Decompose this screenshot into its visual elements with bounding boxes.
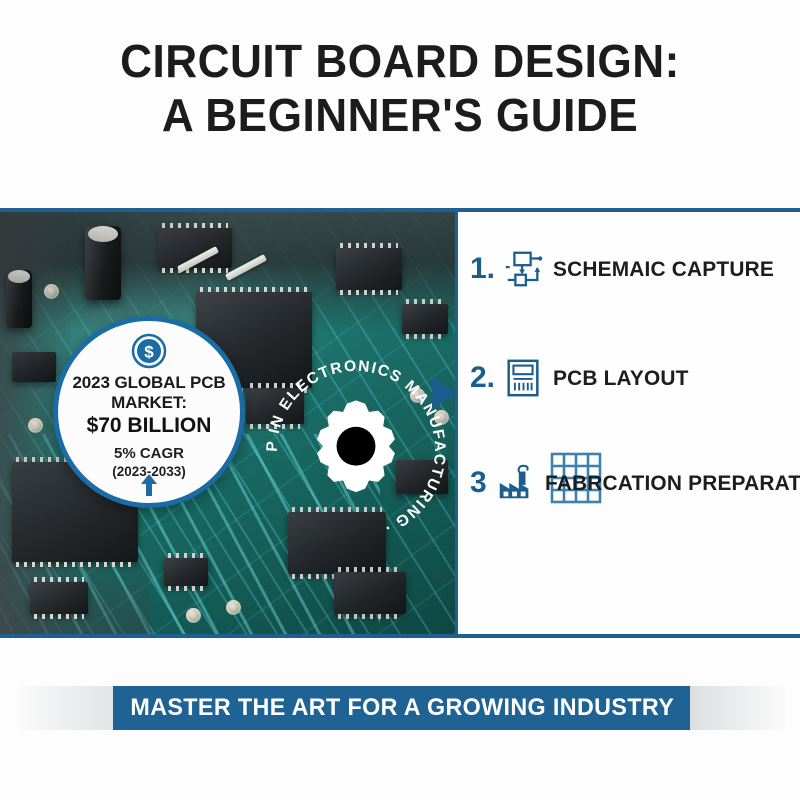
stat-headline: 2023 GLOBAL PCB (72, 373, 225, 393)
main-content-panel: $ 2023 GLOBAL PCB MARKET: $70 BILLION 5%… (0, 208, 800, 638)
step-label-3: FABRCATION PREPARATION (545, 471, 800, 496)
step-label-2: PCB LAYOUT (553, 366, 689, 391)
step-item-3[interactable]: 3 FABRCATION PREPARATION (470, 462, 800, 504)
stat-value: $70 BILLION (87, 414, 212, 438)
svg-text:$: $ (144, 343, 154, 362)
step-number-2: 2. (470, 363, 495, 393)
market-stat-badge: $ 2023 GLOBAL PCB MARKET: $70 BILLION 5%… (53, 316, 245, 508)
banner-strip-left (18, 686, 114, 730)
factory-icon (494, 462, 536, 504)
steps-panel: 1. SCHEMAIC CAPTURE 2. (455, 212, 800, 634)
right-arrow-marker-icon (432, 377, 458, 409)
title-line-2: A BEGINNER'S GUIDE (16, 88, 784, 142)
step-number-3: 3 (470, 468, 487, 498)
footer-banner: MASTER THE ART FOR A GROWING INDUSTRY (113, 686, 691, 730)
step-label-1: SCHEMAIC CAPTURE (553, 257, 774, 282)
stat-headline-2: MARKET: (111, 393, 187, 413)
up-arrow-icon (139, 473, 159, 497)
schematic-diagram-icon (502, 248, 544, 290)
step-item-1[interactable]: 1. SCHEMAIC CAPTURE (470, 248, 781, 290)
step-item-2[interactable]: 2. PCB LAYOUT (470, 357, 693, 399)
title-line-1: CIRCUIT BOARD DESIGN: (16, 34, 784, 88)
dollar-coin-icon: $ (131, 333, 167, 369)
circuit-chip-icon (502, 357, 544, 399)
stat-cagr: 5% CAGR (114, 445, 184, 462)
page-title: CIRCUIT BOARD DESIGN: A BEGINNER'S GUIDE (0, 34, 800, 142)
step-number-1: 1. (470, 254, 495, 284)
footer-banner-text: MASTER THE ART FOR A GROWING INDUSTRY (130, 694, 674, 722)
banner-strip-right (690, 686, 786, 730)
